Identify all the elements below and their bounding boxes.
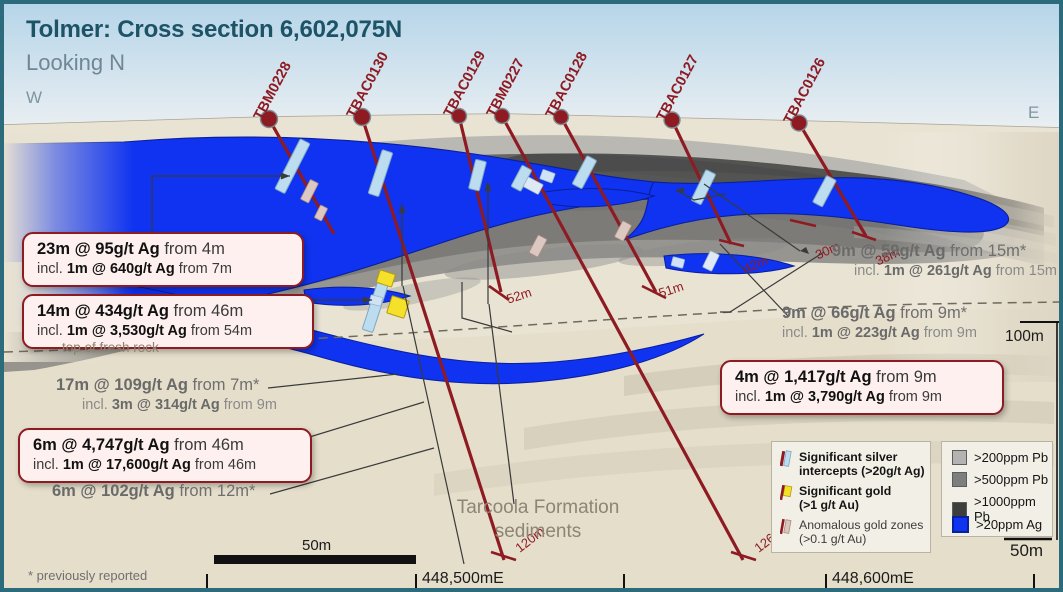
callout-line-2: incl. 1m @ 3,790g/t Ag from 9m xyxy=(735,388,989,406)
east-direction-label: E xyxy=(1028,103,1039,123)
callout-line-1: 14m @ 434g/t Ag from 46m xyxy=(37,302,299,322)
legend-item-pb500[interactable]: >500ppm Pb xyxy=(952,472,1048,487)
west-direction-label: W xyxy=(26,88,42,108)
formation-line-1: Tarcoola Formation xyxy=(457,496,620,520)
easting-label-448600: 448,600mE xyxy=(832,570,914,588)
callout-23m-95gt[interactable]: 23m @ 95g/t Ag from 4m incl. 1m @ 640g/t… xyxy=(22,232,304,287)
page-title: Tolmer: Cross section 6,602,075N xyxy=(26,16,402,44)
legend-label-silver: Significant silverintercepts (>20g/t Ag) xyxy=(799,450,925,479)
title-bold: Tolmer: xyxy=(26,16,111,43)
color-swatch-pb200 xyxy=(952,450,967,465)
cross-section-figure: Tolmer: Cross section 6,602,075N Looking… xyxy=(0,0,1063,592)
legend-item-pb200[interactable]: >200ppm Pb xyxy=(952,450,1048,465)
callout-line-2: incl. 1m @ 3,530g/t Ag from 54m xyxy=(37,322,299,340)
legend-label-anomalous: Anomalous gold zones(>0.1 g/t Au) xyxy=(799,518,923,547)
formation-annotation: Tarcoola Formation sediments xyxy=(457,496,620,544)
legend-label-pb200: >200ppm Pb xyxy=(974,450,1048,465)
title-rest: Cross section 6,602,075N xyxy=(111,16,402,43)
easting-label-448500: 448,500mE xyxy=(422,570,504,588)
callout-line-2: incl. 1m @ 17,600g/t Ag from 46m xyxy=(33,456,297,474)
callout-line-2: incl. 1m @ 640g/t Ag from 7m xyxy=(37,260,289,278)
grey-intercept-9m-66: 9m @ 66g/t Ag from 9m* incl. 1m @ 223g/t… xyxy=(782,304,977,342)
formation-line-2: sediments xyxy=(457,520,620,544)
callout-6m-4747gt[interactable]: 6m @ 4,747g/t Ag from 46m incl. 1m @ 17,… xyxy=(18,428,312,483)
legend-item-gold[interactable]: Significant gold(>1 g/t Au) xyxy=(780,484,891,513)
legend-label-ag20: >20ppm Ag xyxy=(976,517,1042,532)
callout-4m-1417gt[interactable]: 4m @ 1,417g/t Ag from 9m incl. 1m @ 3,79… xyxy=(720,360,1004,415)
color-swatch-pb500 xyxy=(952,472,967,487)
fresh-rock-annotation: top of fresh rock xyxy=(62,340,159,355)
callout-line-1: 4m @ 1,417g/t Ag from 9m xyxy=(735,368,989,388)
callout-line-1: 23m @ 95g/t Ag from 4m xyxy=(37,240,289,260)
callout-line-1: 6m @ 4,747g/t Ag from 46m xyxy=(33,436,297,456)
scale-bar-label: 50m xyxy=(302,537,331,554)
legend-item-ag20[interactable]: >20ppm Ag xyxy=(952,516,1042,533)
scale-bar-main xyxy=(214,555,416,564)
gold-intercept-flag-icon xyxy=(780,484,793,500)
silver-intercept-flag-icon xyxy=(780,450,793,466)
depth-label-100m: 100m xyxy=(1005,328,1044,346)
legend-item-silver[interactable]: Significant silverintercepts (>20g/t Ag) xyxy=(780,450,925,479)
footnote: * previously reported xyxy=(28,568,147,583)
grey-intercept-6m-102: 6m @ 102g/t Ag from 12m* xyxy=(52,482,255,502)
legend-label-pb500: >500ppm Pb xyxy=(974,472,1048,487)
corner-scale-label: 50m xyxy=(1010,541,1043,561)
figure-canvas: Tolmer: Cross section 6,602,075N Looking… xyxy=(4,4,1059,588)
legend-symbols: Significant silverintercepts (>20g/t Ag)… xyxy=(771,441,931,553)
grey-intercept-9m-59: 9m @ 59g/t Ag from 15m* incl. 1m @ 261g/… xyxy=(832,242,1057,280)
color-swatch-pb1000 xyxy=(952,502,967,517)
grey-intercept-17m: 17m @ 109g/t Ag from 7m* incl. 3m @ 314g… xyxy=(56,376,277,414)
legend-item-anomalous[interactable]: Anomalous gold zones(>0.1 g/t Au) xyxy=(780,518,923,547)
subtitle: Looking N xyxy=(26,50,125,76)
legend-label-gold: Significant gold(>1 g/t Au) xyxy=(799,484,891,513)
anomalous-gold-flag-icon xyxy=(780,518,793,534)
legend-colors: >200ppm Pb >500ppm Pb >1000ppm Pb >20ppm… xyxy=(941,441,1053,537)
color-swatch-ag20 xyxy=(952,516,969,533)
